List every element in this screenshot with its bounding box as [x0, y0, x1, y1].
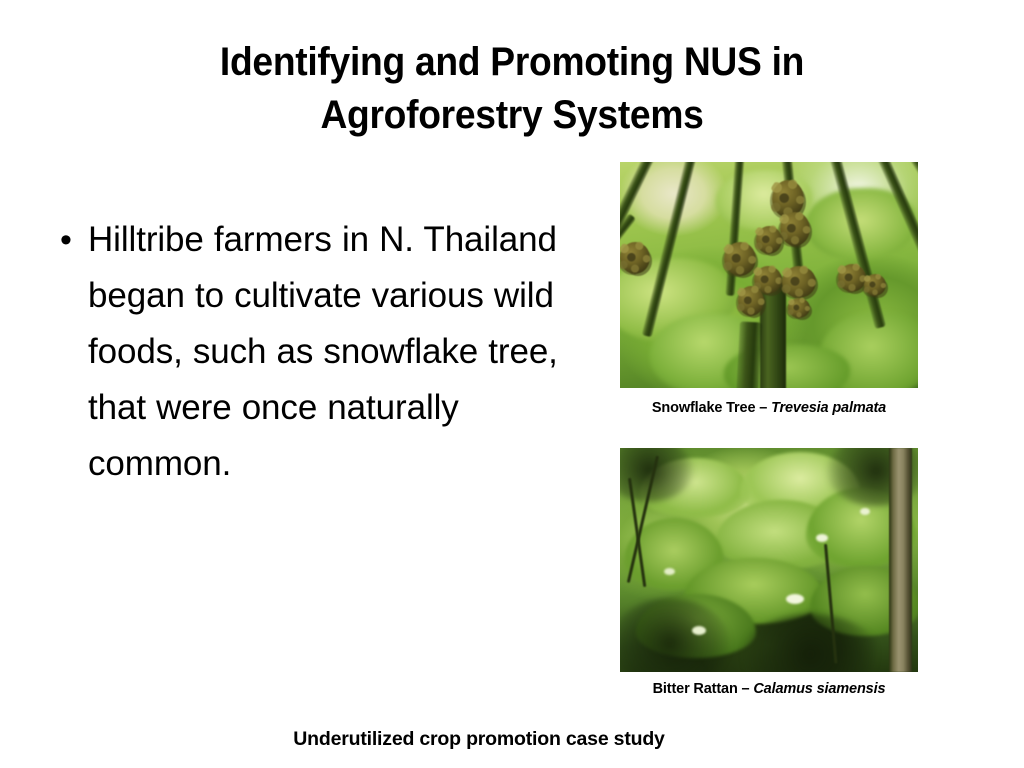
slide-title: Identifying and Promoting NUS in Agrofor… — [110, 36, 914, 142]
caption-common-name: Bitter Rattan – — [653, 681, 754, 697]
bullet-list-item: • Hilltribe farmers in N. Thailand began… — [50, 212, 610, 492]
slide-canvas: Identifying and Promoting NUS in Agrofor… — [0, 0, 1024, 768]
bitter-rattan-caption: Bitter Rattan – Calamus siamensis — [620, 681, 918, 697]
body-content: • Hilltribe farmers in N. Thailand began… — [50, 212, 610, 492]
snowflake-tree-caption: Snowflake Tree – Trevesia palmata — [620, 400, 918, 416]
bitter-rattan-photo — [620, 448, 918, 672]
caption-scientific-name: Calamus siamensis — [753, 681, 885, 697]
snowflake-tree-photo — [620, 162, 918, 388]
slide-footer: Underutilized crop promotion case study — [0, 728, 958, 751]
bullet-text: Hilltribe farmers in N. Thailand began t… — [88, 212, 610, 492]
bullet-marker-icon: • — [50, 212, 88, 268]
caption-common-name: Snowflake Tree – — [652, 400, 771, 416]
caption-scientific-name: Trevesia palmata — [771, 400, 886, 416]
